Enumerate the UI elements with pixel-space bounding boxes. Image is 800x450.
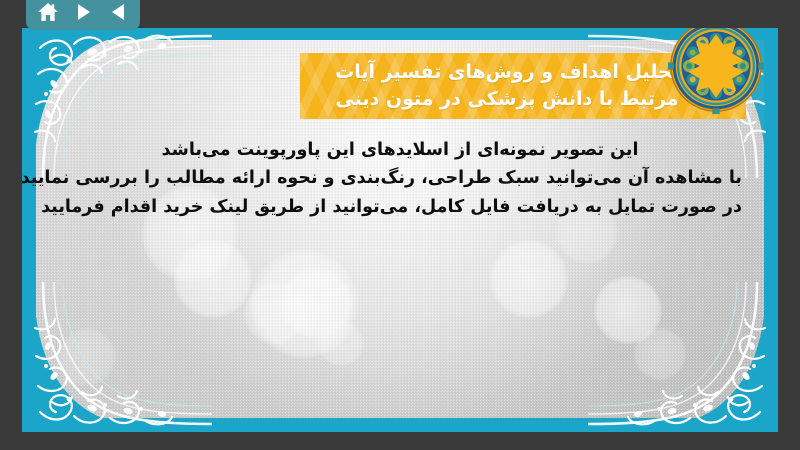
back-button[interactable] xyxy=(105,0,131,24)
slide-title: تحلیل اهداف و روش‌های تفسیر آیات مرتبط ب… xyxy=(314,59,700,113)
forward-button[interactable] xyxy=(70,0,96,24)
body-line: در صورت تمایل به دریافت فایل کامل، می‌تو… xyxy=(58,193,742,221)
navigation-bar xyxy=(26,0,140,30)
triangle-left-icon xyxy=(110,3,127,21)
body-line: این تصویر نمونه‌ای از اسلایدهای این پاور… xyxy=(58,136,742,164)
body-line: با مشاهده آن می‌توانید سبک طراحی، رنگ‌بن… xyxy=(58,164,742,192)
islamic-medallion-icon xyxy=(668,28,764,114)
triangle-right-icon xyxy=(75,3,92,21)
slide-viewer: تحلیل اهداف و روش‌های تفسیر آیات مرتبط ب… xyxy=(0,0,800,450)
home-icon xyxy=(37,2,59,22)
slide-body-text: این تصویر نمونه‌ای از اسلایدهای این پاور… xyxy=(58,136,742,221)
home-button[interactable] xyxy=(35,0,61,24)
presentation-slide: تحلیل اهداف و روش‌های تفسیر آیات مرتبط ب… xyxy=(22,28,778,432)
